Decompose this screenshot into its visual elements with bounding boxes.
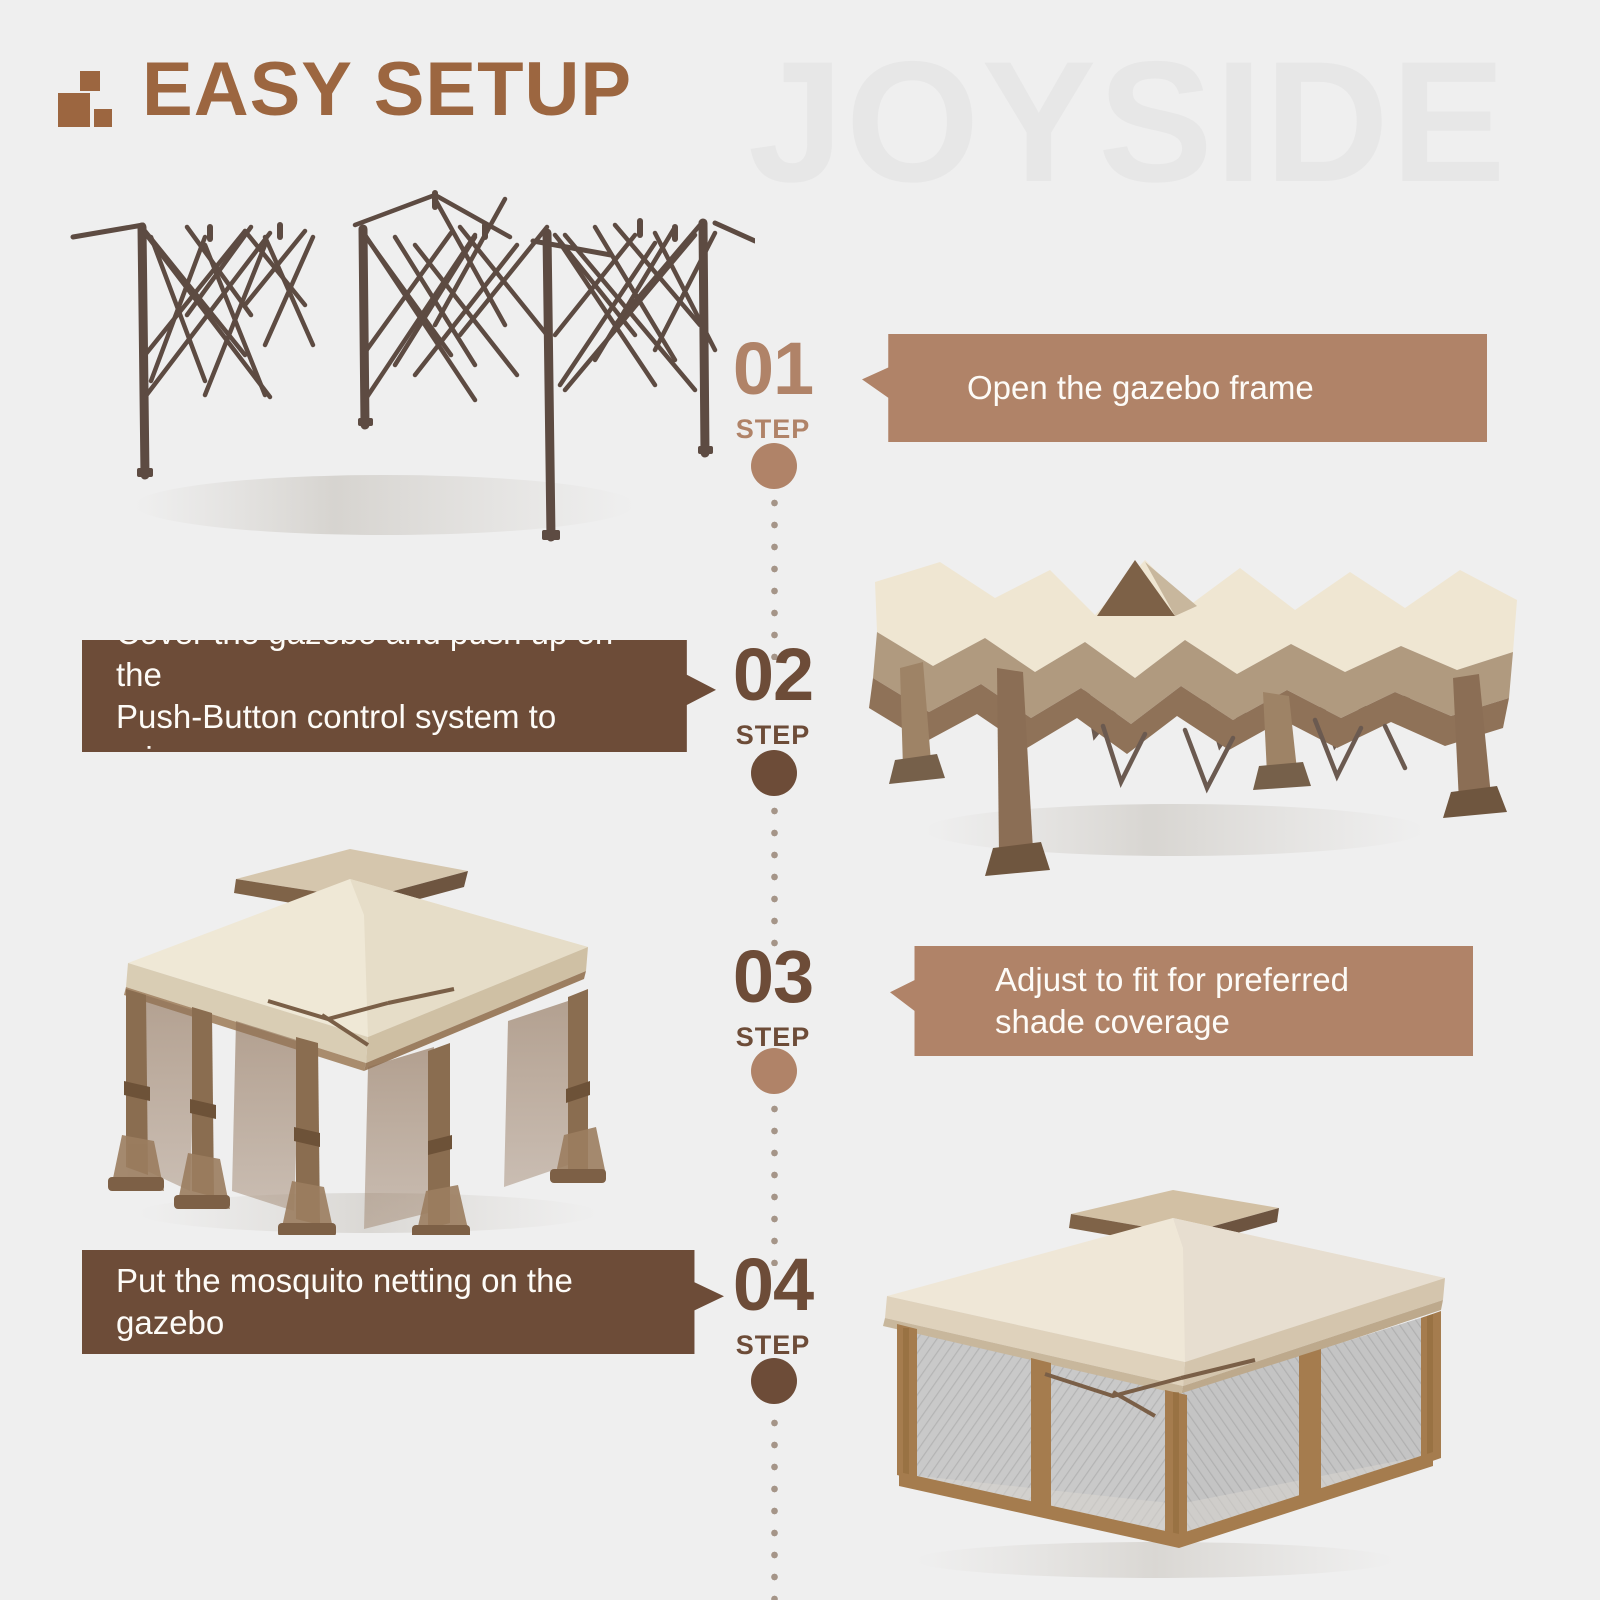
step-2-number: 02	[688, 638, 858, 712]
step-4-text: Put the mosquito netting on the gazebo	[116, 1260, 624, 1344]
step-2-image	[845, 520, 1545, 880]
page-title-text: EASY SETUP	[142, 52, 632, 128]
step-1-number: 01	[688, 332, 858, 406]
step-2-text: Cover the gazebo and push up on the Push…	[116, 612, 616, 781]
step-3-banner: Adjust to fit for preferred shade covera…	[890, 946, 1473, 1056]
step-3-number: 03	[688, 940, 858, 1014]
step-1-text: Open the gazebo frame	[967, 367, 1314, 409]
step-3-dot	[751, 1048, 797, 1094]
brand-watermark: JOYSIDE	[748, 36, 1508, 208]
step-2-word: STEP	[688, 722, 858, 749]
step-4-banner: Put the mosquito netting on the gazebo	[82, 1250, 724, 1354]
step-3-badge: 03 STEP	[688, 940, 858, 1051]
step-3-word: STEP	[688, 1024, 858, 1051]
page-title: EASY SETUP	[58, 52, 632, 128]
step-4-word: STEP	[688, 1332, 858, 1359]
step-2-dot	[751, 750, 797, 796]
step-1-dot	[751, 443, 797, 489]
step-1-image	[55, 185, 755, 565]
step-4-image	[855, 1148, 1475, 1578]
step-4-badge: 04 STEP	[688, 1248, 858, 1359]
step-4-dot	[751, 1358, 797, 1404]
step-3-text: Adjust to fit for preferred shade covera…	[995, 959, 1439, 1043]
step-1-word: STEP	[688, 416, 858, 443]
step-1-banner: Open the gazebo frame	[862, 334, 1487, 442]
infographic-page: JOYSIDE EASY SETUP	[0, 0, 1600, 1600]
blocks-icon	[58, 59, 120, 121]
step-4-number: 04	[688, 1248, 858, 1322]
timeline-connector-4-end	[770, 1412, 779, 1600]
timeline-connector-3-4	[770, 1098, 779, 1266]
step-3-image	[68, 805, 678, 1235]
step-1-badge: 01 STEP	[688, 332, 858, 443]
step-2-badge: 02 STEP	[688, 638, 858, 749]
step-2-banner: Cover the gazebo and push up on the Push…	[82, 640, 716, 752]
